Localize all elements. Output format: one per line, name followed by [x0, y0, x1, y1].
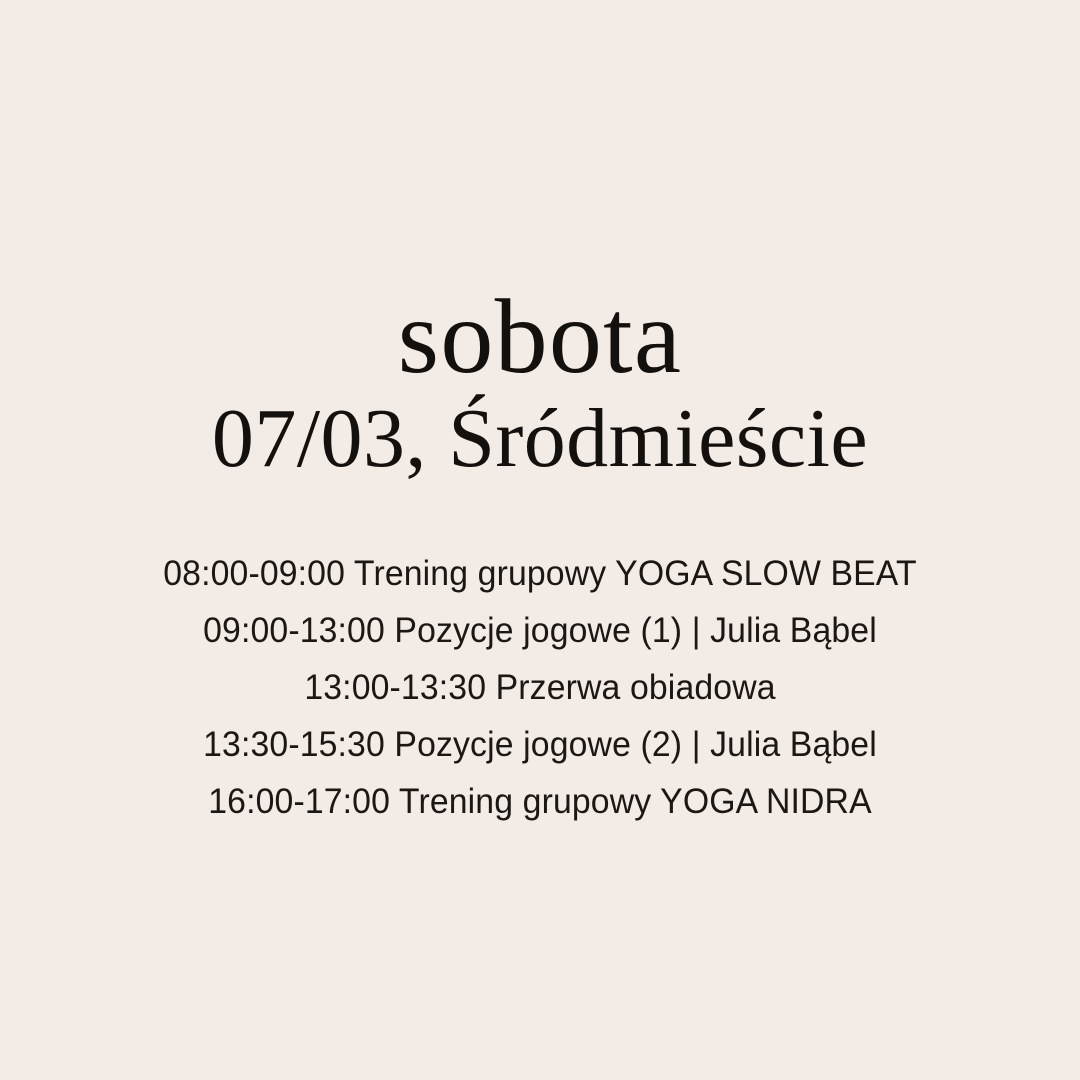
- date-location-subtitle: 07/03, Śródmieście: [0, 396, 1080, 482]
- list-item: 08:00-09:00 Trening grupowy YOGA SLOW BE…: [19, 545, 1061, 602]
- list-item: 13:00-13:30 Przerwa obiadowa: [19, 659, 1061, 716]
- list-item: 13:30-15:30 Pozycje jogowe (2) | Julia B…: [19, 716, 1061, 773]
- poster-canvas: sobota 07/03, Śródmieście 08:00-09:00 Tr…: [0, 0, 1080, 1080]
- list-item: 16:00-17:00 Trening grupowy YOGA NIDRA: [19, 773, 1061, 830]
- page-title: sobota: [0, 288, 1080, 386]
- list-item: 09:00-13:00 Pozycje jogowe (1) | Julia B…: [19, 602, 1061, 659]
- schedule-list: 08:00-09:00 Trening grupowy YOGA SLOW BE…: [0, 545, 1080, 830]
- title-block: sobota 07/03, Śródmieście: [0, 288, 1080, 481]
